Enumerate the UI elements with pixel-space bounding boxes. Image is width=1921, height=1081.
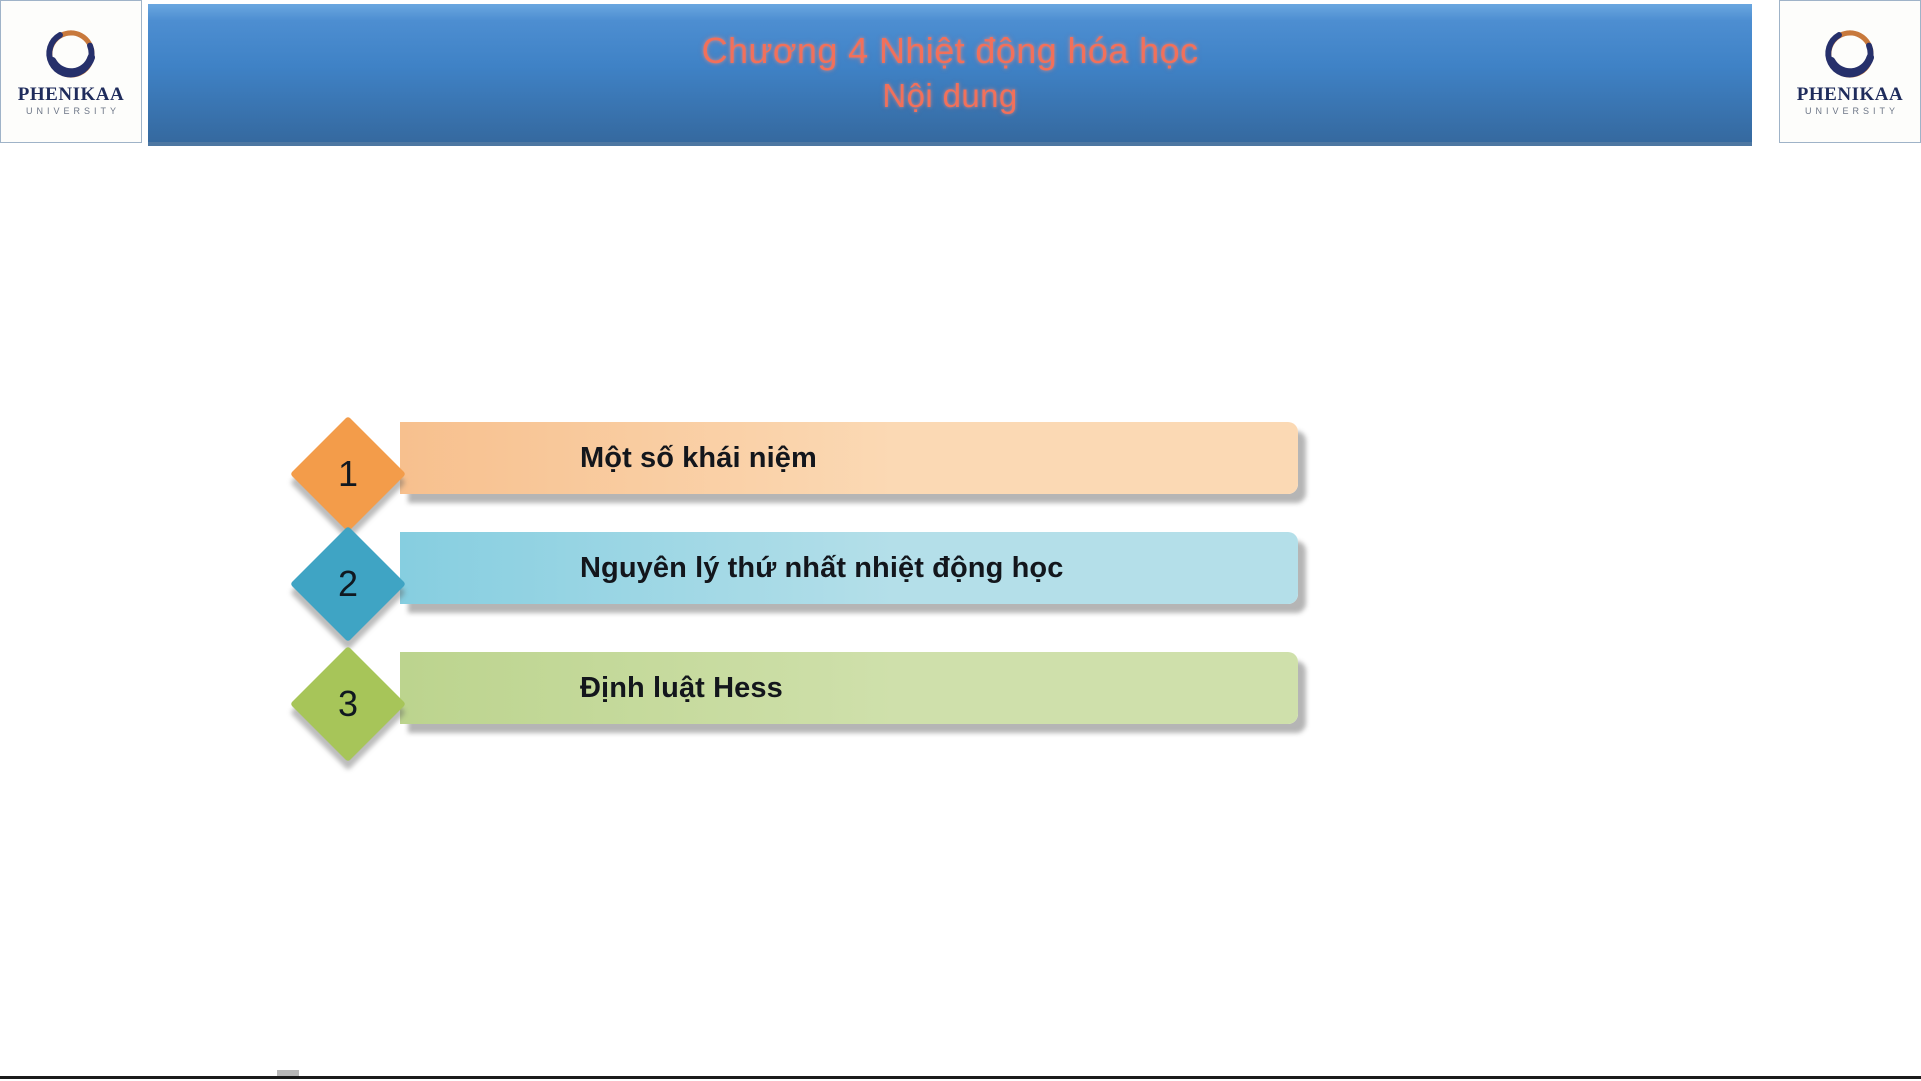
agenda-label-1: Một số khái niệm bbox=[580, 442, 817, 475]
agenda-diamond-wrap-1: 1 bbox=[290, 416, 406, 532]
agenda-label-3: Định luật Hess bbox=[580, 672, 783, 705]
agenda-diamond-wrap-2: 2 bbox=[290, 526, 406, 642]
agenda-label-2: Nguyên lý thứ nhất nhiệt động học bbox=[580, 552, 1063, 585]
agenda-list: Một số khái niệm 1 Nguyên lý thứ nhất nh… bbox=[0, 0, 1921, 1081]
agenda-diamond-2[interactable] bbox=[290, 526, 406, 642]
agenda-bar-2[interactable]: Nguyên lý thứ nhất nhiệt động học bbox=[400, 532, 1298, 604]
agenda-diamond-wrap-3: 3 bbox=[290, 646, 406, 762]
bottom-rule bbox=[0, 1076, 1921, 1079]
agenda-diamond-3[interactable] bbox=[290, 646, 406, 762]
slide-canvas: Chương 4 Nhiệt động hóa học Nội dung PHE… bbox=[0, 0, 1921, 1081]
agenda-bar-1[interactable]: Một số khái niệm bbox=[400, 422, 1298, 494]
agenda-diamond-1[interactable] bbox=[290, 416, 406, 532]
agenda-bar-3[interactable]: Định luật Hess bbox=[400, 652, 1298, 724]
